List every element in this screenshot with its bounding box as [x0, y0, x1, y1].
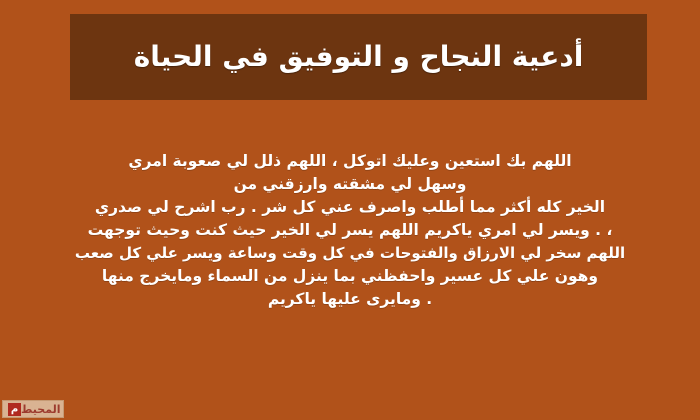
dua-line: وهون علي كل عسير واحفظني بما ينزل من الس…: [18, 265, 682, 288]
dua-line: وسهل لي مشقته وارزقني من: [18, 173, 682, 196]
poster-canvas: أدعية النجاح و التوفيق في الحياة اللهم ب…: [0, 0, 700, 420]
dua-text-block: اللهم بك استعين وعليك اتوكل ، اللهم ذلل …: [0, 150, 700, 311]
page-title: أدعية النجاح و التوفيق في الحياة: [134, 40, 584, 74]
title-banner: أدعية النجاح و التوفيق في الحياة: [70, 14, 647, 100]
watermark: المحيط م: [2, 400, 64, 418]
dua-line: اللهم سخر لي الارزاق والفتوحات في كل وقت…: [18, 242, 682, 265]
watermark-logo-icon: م: [8, 403, 21, 416]
dua-line: الخير كله أكثر مما أطلب واصرف عني كل شر …: [18, 196, 682, 219]
dua-line: . ومايرى عليها ياكريم: [18, 288, 682, 311]
dua-line: ، . ويسر لي امري ياكريم اللهم يسر لي الخ…: [18, 219, 682, 242]
watermark-label: المحيط: [21, 403, 60, 416]
dua-line: اللهم بك استعين وعليك اتوكل ، اللهم ذلل …: [18, 150, 682, 173]
